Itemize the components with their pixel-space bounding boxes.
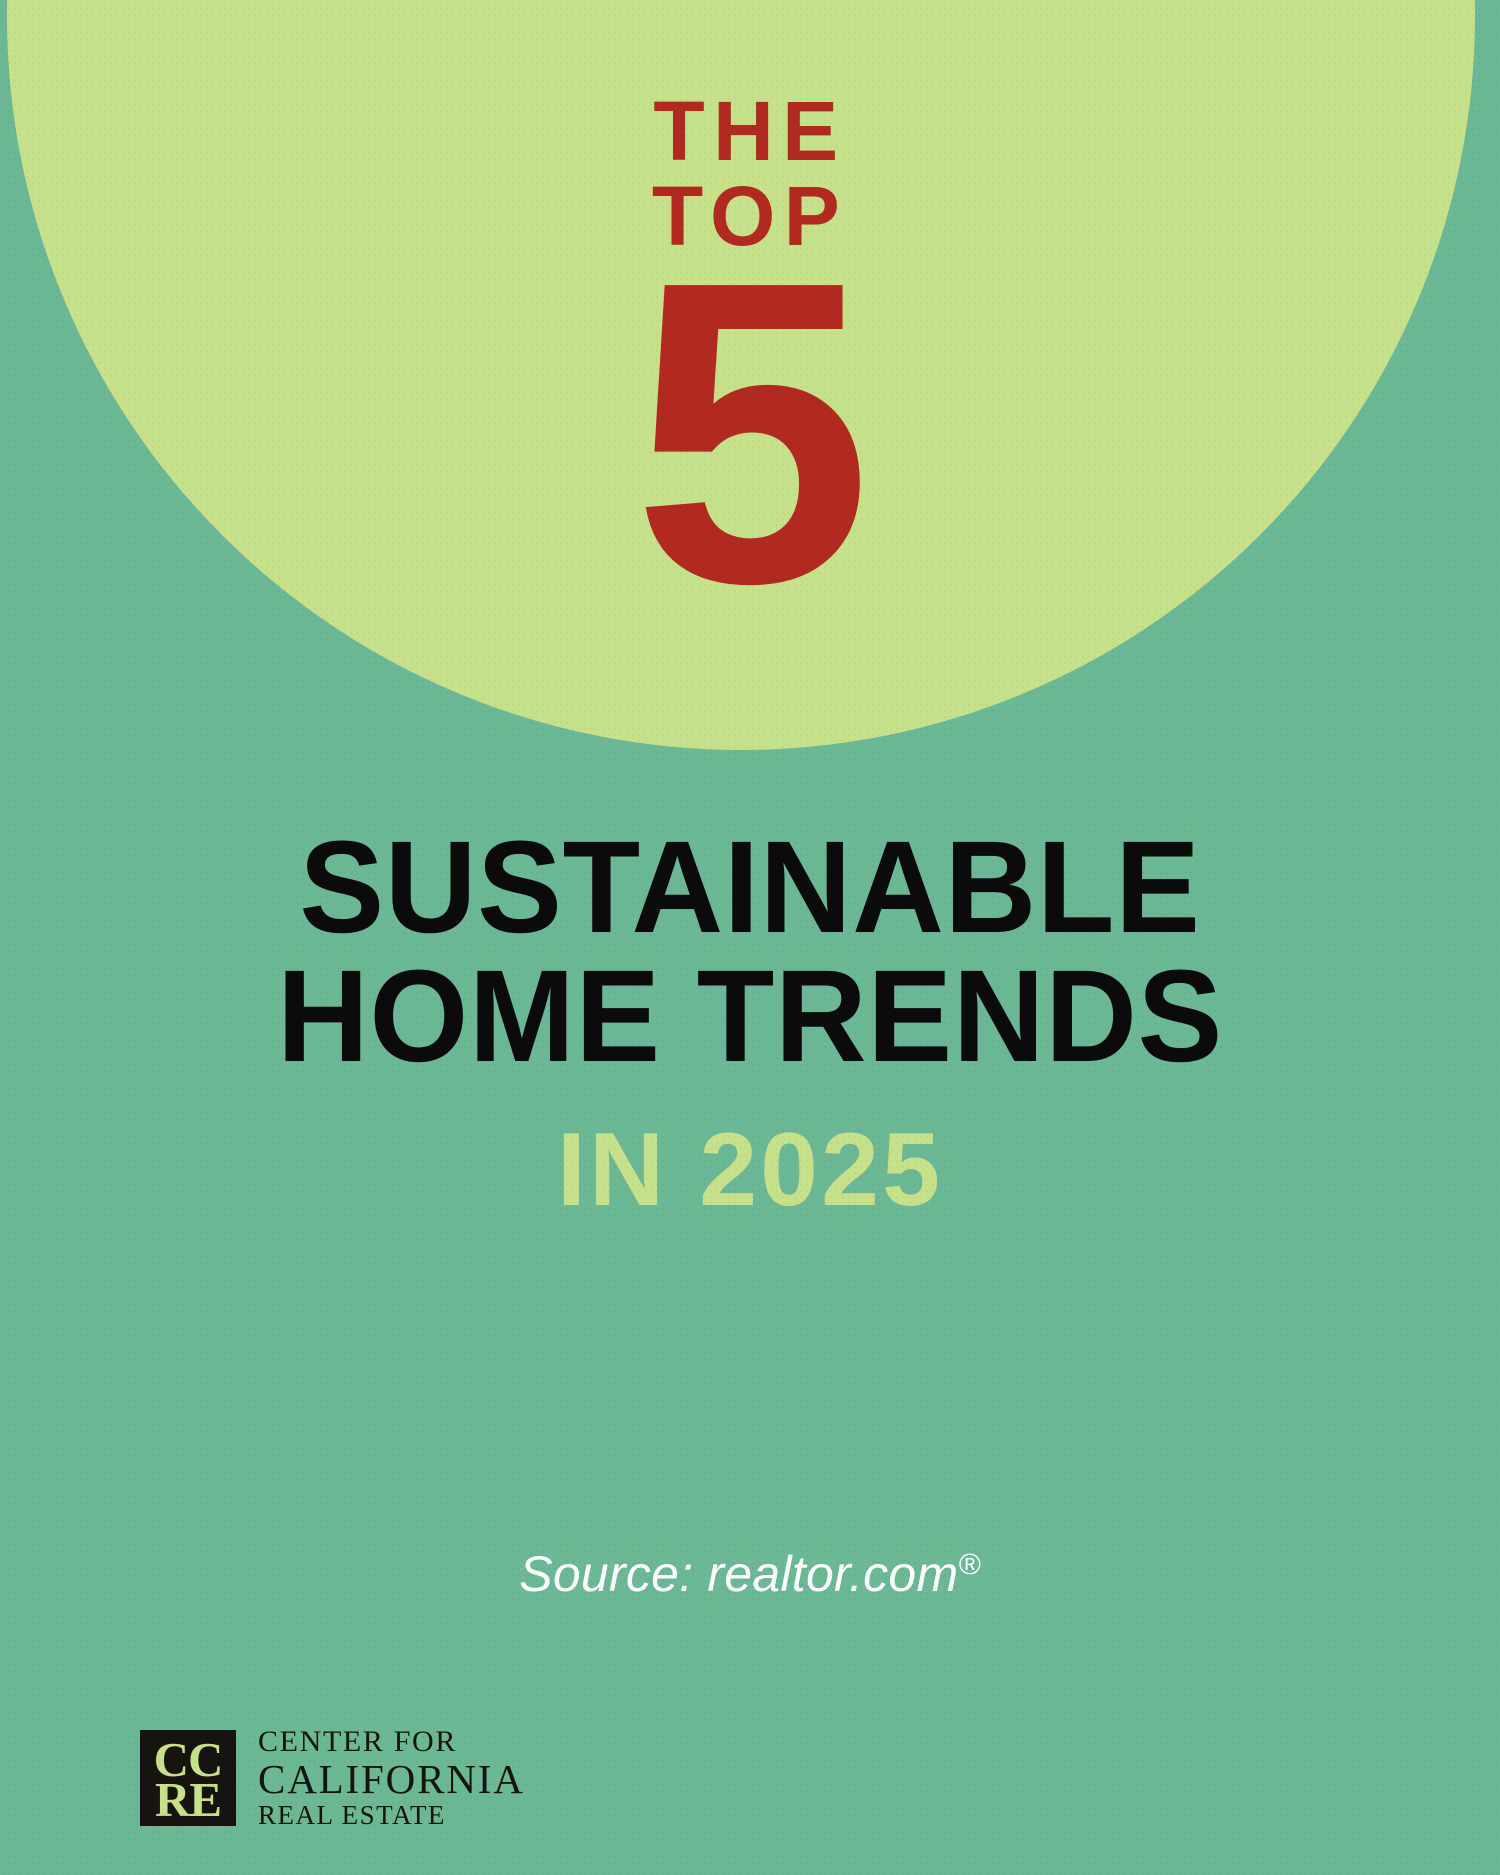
logo-line-center-for: CENTER FOR (258, 1727, 525, 1758)
hero-number-five: 5 (0, 274, 1500, 592)
logo-line-california: CALIFORNIA (258, 1759, 525, 1801)
ccre-logo: CC RE CENTER FOR CALIFORNIA REAL ESTATE (140, 1727, 525, 1830)
hero-line-the: THE (0, 92, 1500, 171)
title-subtitle-year: IN 2025 (0, 1118, 1500, 1222)
ccre-monogram-icon: CC RE (140, 1730, 236, 1826)
registered-trademark-icon: ® (958, 1549, 980, 1582)
poster-canvas: THE TOP 5 SUSTAINABLE HOME TRENDS IN 202… (0, 0, 1500, 1875)
monogram-bottom-letters: RE (140, 1775, 236, 1824)
source-attribution: Source: realtor.com® (0, 1545, 1500, 1603)
logo-line-real-estate: REAL ESTATE (258, 1802, 525, 1830)
title-line-sustainable: SUSTAINABLE (23, 820, 1478, 955)
main-title-block: SUSTAINABLE HOME TRENDS IN 2025 (0, 820, 1500, 1222)
hero-heading: THE TOP 5 (0, 0, 1500, 592)
ccre-logo-wordmark: CENTER FOR CALIFORNIA REAL ESTATE (258, 1727, 525, 1830)
source-text: Source: realtor.com (519, 1546, 958, 1602)
title-line-home-trends: HOME TRENDS (23, 949, 1478, 1084)
